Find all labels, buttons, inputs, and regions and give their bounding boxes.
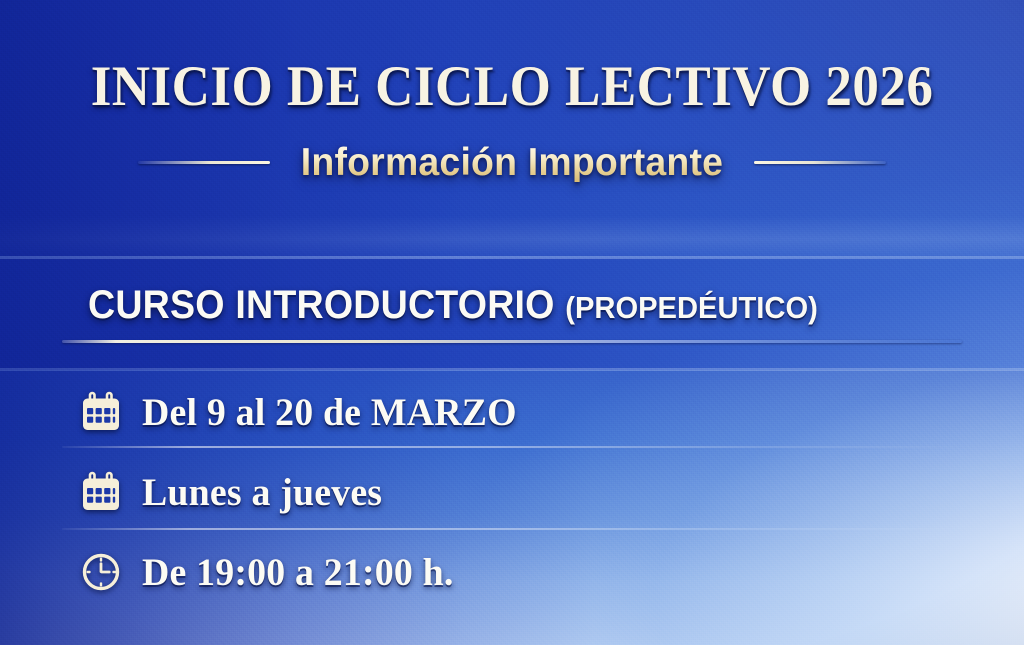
- section-divider: [62, 340, 962, 343]
- subtitle-rule-right: [754, 161, 886, 164]
- list-item: Lunes a jueves: [78, 452, 938, 532]
- info-list: Del 9 al 20 de MARZO: [78, 372, 938, 612]
- list-item: De 19:00 a 21:00 h.: [78, 532, 938, 612]
- calendar-icon: [78, 469, 124, 515]
- list-item: Del 9 al 20 de MARZO: [78, 372, 938, 452]
- calendar-icon: [78, 389, 124, 435]
- section-heading: CURSO INTRODUCTORIO (PROPEDÉUTICO): [88, 285, 818, 325]
- page-subtitle: Información Importante: [301, 143, 723, 182]
- list-item-label: De 19:00 a 21:00 h.: [142, 553, 454, 592]
- poster-canvas: INICIO DE CICLO LECTIVO 2026 Información…: [0, 0, 1024, 645]
- subtitle-row: Información Importante: [0, 143, 1024, 182]
- section-heading-parenthetical: (PROPEDÉUTICO): [565, 290, 818, 325]
- list-item-label: Lunes a jueves: [142, 473, 382, 512]
- section-heading-main: CURSO INTRODUCTORIO: [88, 283, 565, 327]
- list-item-label: Del 9 al 20 de MARZO: [142, 393, 517, 432]
- page-title: INICIO DE CICLO LECTIVO 2026: [36, 58, 988, 115]
- poster-content: INICIO DE CICLO LECTIVO 2026 Información…: [0, 0, 1024, 645]
- clock-icon: [78, 549, 124, 595]
- subtitle-rule-left: [138, 161, 270, 164]
